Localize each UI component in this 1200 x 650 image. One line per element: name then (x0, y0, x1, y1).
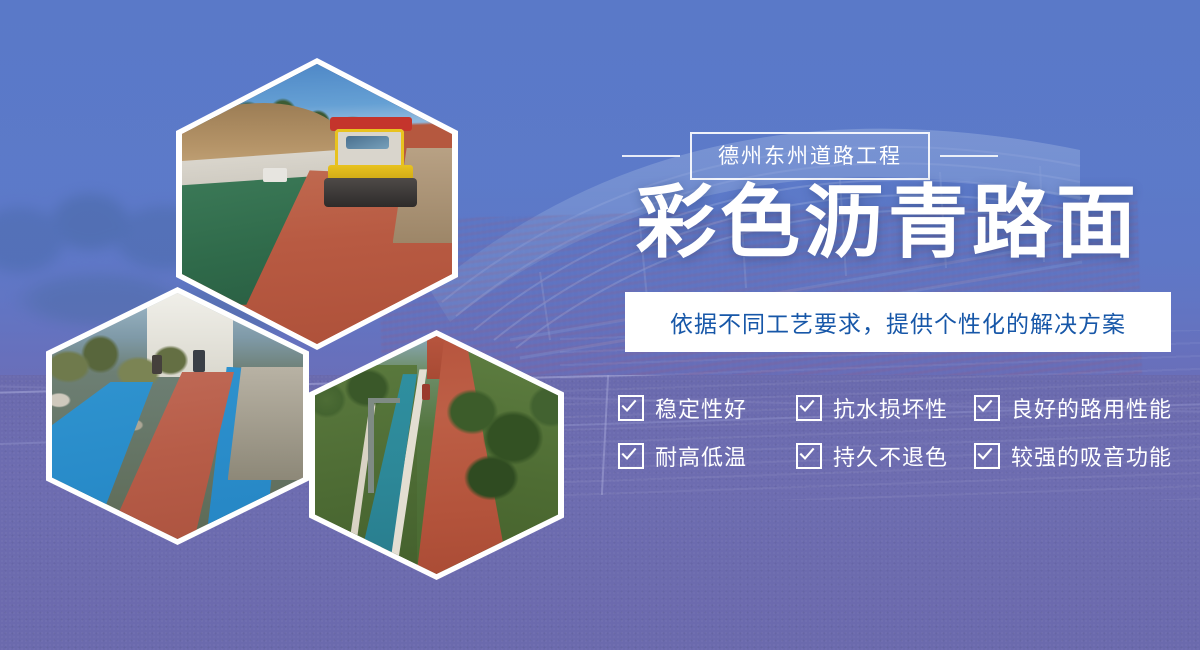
feature-label: 持久不退色 (833, 440, 948, 472)
feature-row: 稳定性好 抗水损坏性 良好的路用性能 (618, 392, 1193, 424)
photo-clip (315, 336, 558, 574)
photo-rider (193, 350, 206, 372)
photo-red-teal-bicycle-greenway (315, 336, 558, 574)
photo-pedestrian (422, 384, 430, 401)
feature-label: 耐高低温 (655, 440, 747, 472)
check-icon (974, 395, 1000, 421)
feature-label: 良好的路用性能 (1011, 392, 1172, 424)
tag-label: 德州东州道路工程 (718, 140, 902, 170)
check-icon (618, 443, 644, 469)
feature-label: 较强的吸音功能 (1011, 440, 1172, 472)
photo-rider (152, 355, 162, 375)
feature-item-temperature-resistance: 耐高低温 (618, 440, 796, 472)
check-icon (796, 395, 822, 421)
brand-tag: 德州东州道路工程 (622, 130, 1182, 182)
tag-box: 德州东州道路工程 (690, 132, 930, 180)
subtitle-panel: 依据不同工艺要求，提供个性化的解决方案 (625, 292, 1171, 352)
tag-rule-right (940, 155, 998, 157)
tag-rule-left (622, 155, 680, 157)
feature-item-water-damage-resistance: 抗水损坏性 (796, 392, 974, 424)
feature-item-colour-fastness: 持久不退色 (796, 440, 974, 472)
photo-parked-car (263, 168, 287, 182)
photo-roller-machine (328, 117, 417, 212)
photo-lamp-arm (368, 398, 400, 403)
feature-item-sound-absorption: 较强的吸音功能 (974, 440, 1172, 472)
feature-label: 稳定性好 (655, 392, 747, 424)
check-icon (974, 443, 1000, 469)
banner-content: 德州东州道路工程 彩色沥青路面 依据不同工艺要求，提供个性化的解决方案 稳定性好 (600, 0, 1200, 650)
feature-label: 抗水损坏性 (833, 392, 948, 424)
subtitle-text: 依据不同工艺要求，提供个性化的解决方案 (670, 305, 1126, 339)
feature-list: 稳定性好 抗水损坏性 良好的路用性能 (618, 392, 1193, 488)
photo-lamp-post (368, 398, 373, 493)
roller-windscreen (346, 136, 389, 149)
feature-item-road-performance: 良好的路用性能 (974, 392, 1172, 424)
page-title: 彩色沥青路面 (636, 183, 1181, 263)
feature-item-stability: 稳定性好 (618, 392, 796, 424)
feature-row: 耐高低温 持久不退色 较强的吸音功能 (618, 440, 1193, 472)
check-icon (618, 395, 644, 421)
promo-banner: 德州东州道路工程 彩色沥青路面 依据不同工艺要求，提供个性化的解决方案 稳定性好 (0, 0, 1200, 650)
photo-trees-right (437, 369, 559, 512)
roller-drum (324, 178, 417, 207)
check-icon (796, 443, 822, 469)
